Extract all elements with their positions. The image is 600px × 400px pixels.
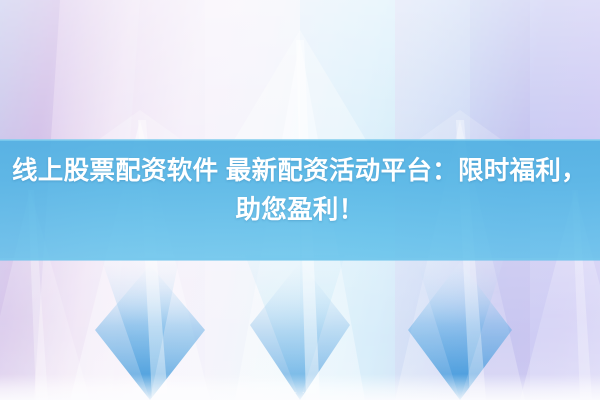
headline-line-2: 助您盈利！ bbox=[4, 191, 596, 230]
headline-line-1: 线上股票配资软件 最新配资活动平台：限时福利， bbox=[4, 152, 596, 191]
banner-headline: 线上股票配资软件 最新配资活动平台：限时福利， 助您盈利！ bbox=[0, 152, 600, 230]
promo-banner: 线上股票配资软件 最新配资活动平台：限时福利， 助您盈利！ · · bbox=[0, 0, 600, 400]
